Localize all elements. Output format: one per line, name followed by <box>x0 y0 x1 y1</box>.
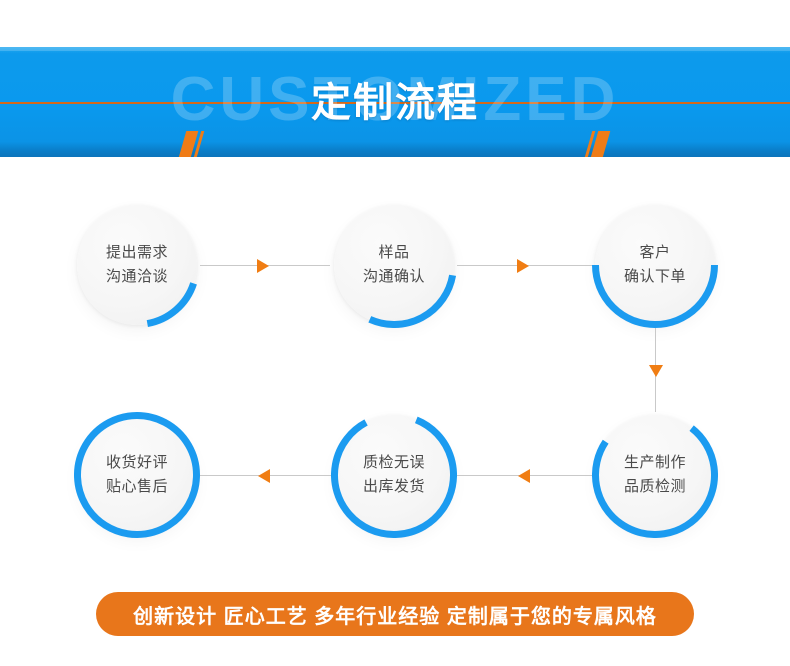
step-label-line1: 质检无误 <box>363 451 425 475</box>
arrow-down-icon-3 <box>649 365 663 377</box>
header-banner: CUSTOMIZED 定制流程 <box>0 47 790 157</box>
step-label-line2: 沟通确认 <box>363 265 425 289</box>
flow-step-2[interactable]: 样品 沟通确认 <box>331 202 457 328</box>
step-label: 生产制作 品质检测 <box>592 412 718 538</box>
arrow-left-icon-5 <box>258 469 270 483</box>
flow-step-5[interactable]: 质检无误 出库发货 <box>331 412 457 538</box>
step-label-line1: 客户 <box>639 241 670 265</box>
step-label-line2: 品质检测 <box>624 475 686 499</box>
step-label-line2: 确认下单 <box>624 265 686 289</box>
step-label-line1: 生产制作 <box>624 451 686 475</box>
arrow-right-icon-1 <box>257 259 269 273</box>
flow-step-4[interactable]: 生产制作 品质检测 <box>592 412 718 538</box>
footer-slogan-text: 创新设计 匠心工艺 多年行业经验 定制属于您的专属风格 <box>133 600 657 629</box>
arrow-left-icon-4 <box>518 469 530 483</box>
flow-step-1[interactable]: 提出需求 沟通洽谈 <box>74 202 200 328</box>
flow-step-3[interactable]: 客户 确认下单 <box>592 202 718 328</box>
step-label-line2: 沟通洽谈 <box>106 265 168 289</box>
step-label: 客户 确认下单 <box>592 202 718 328</box>
footer-slogan-banner: 创新设计 匠心工艺 多年行业经验 定制属于您的专属风格 <box>96 592 694 636</box>
process-flow-diagram: 提出需求 沟通洽谈 样品 沟通确认 客户 确认下单 生产制作 品质检测 <box>0 170 790 570</box>
step-label: 提出需求 沟通洽谈 <box>74 202 200 328</box>
flow-step-6[interactable]: 收货好评 贴心售后 <box>74 412 200 538</box>
step-label: 样品 沟通确认 <box>331 202 457 328</box>
slash-mark-right-icon <box>582 131 608 157</box>
step-label: 质检无误 出库发货 <box>331 412 457 538</box>
step-label-line2: 贴心售后 <box>106 475 168 499</box>
step-label-line2: 出库发货 <box>363 475 425 499</box>
step-label: 收货好评 贴心售后 <box>74 412 200 538</box>
step-label-line1: 样品 <box>378 241 409 265</box>
page-title: 定制流程 <box>0 75 790 131</box>
step-label-line1: 提出需求 <box>106 241 168 265</box>
arrow-right-icon-2 <box>517 259 529 273</box>
step-label-line1: 收货好评 <box>106 451 168 475</box>
slash-mark-left-icon <box>182 131 208 157</box>
